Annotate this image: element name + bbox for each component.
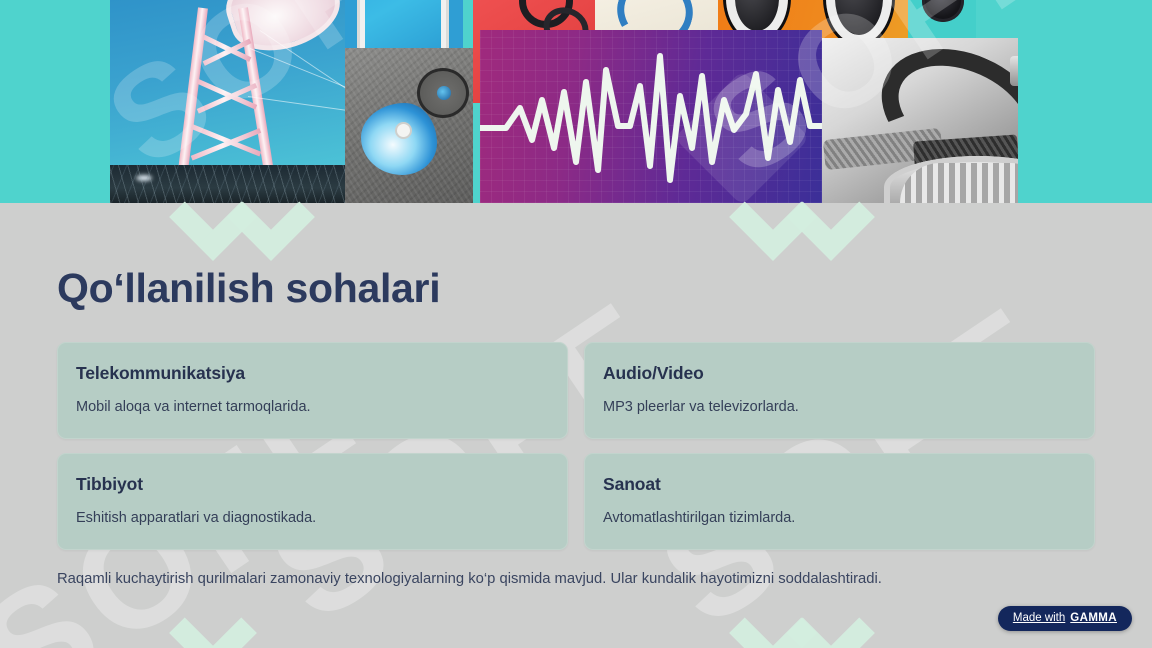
footer-note: Raqamli kuchaytirish qurilmalari zamonav… [57,571,882,587]
blue-blob-shape [361,103,437,175]
industrial-machinery-photo [822,38,1018,203]
card-title: Sanoat [603,474,1076,495]
made-with-gamma-badge[interactable]: Made with GAMMA [998,606,1132,631]
lens-flare-shape [136,175,152,181]
card-title: Tibbiyot [76,474,549,495]
card-description: Avtomatlashtirilgan tizimlarda. [603,510,1076,526]
badge-prefix-label: Made with [1013,612,1065,624]
card-description: Eshitish apparatlari va diagnostikada. [76,510,549,526]
slide: SOFF SOFF SOFF SOFF SOFF Qo‘llanilish so… [0,0,1152,648]
card-telekommunikatsiya[interactable]: Telekommunikatsiya Mobil aloqa va intern… [57,342,568,439]
slide-content: Qo‘llanilish sohalari Telekommunikatsiya… [0,203,1152,648]
card-tibbiyot[interactable]: Tibbiyot Eshitish apparatlari va diagnos… [57,453,568,550]
card-description: Mobil aloqa va internet tarmoqlarida. [76,399,549,415]
purple-waveform-graphic [480,30,822,203]
phone-home-button-shape [395,122,412,139]
bolt-shape [1010,56,1018,86]
card-audio-video[interactable]: Audio/Video MP3 pleerlar va televizorlar… [584,342,1095,439]
dark-ring-shape [417,68,469,118]
badge-brand-label: GAMMA [1070,612,1117,624]
image-collage [110,0,1018,203]
turbine-fins-shape [900,163,1018,203]
application-cards-grid: Telekommunikatsiya Mobil aloqa va intern… [57,342,1095,550]
waveform-line-icon [480,30,822,203]
card-title: Telekommunikatsiya [76,363,549,384]
night-structure-photo [110,165,345,203]
card-title: Audio/Video [603,363,1076,384]
card-description: MP3 pleerlar va televizorlarda. [603,399,1076,415]
hero-band [0,0,1152,203]
card-sanoat[interactable]: Sanoat Avtomatlashtirilgan tizimlarda. [584,453,1095,550]
page-title: Qo‘llanilish sohalari [57,265,440,312]
telecom-tower-photo [110,0,345,165]
